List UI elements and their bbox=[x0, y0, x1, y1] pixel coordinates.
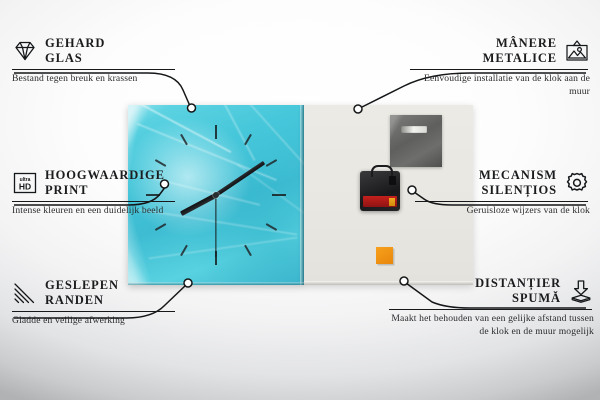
callout-title-block: HOOGWAARDIGE PRINT bbox=[45, 168, 165, 198]
callout-title-line2: GLAS bbox=[45, 51, 105, 66]
callout-title-line2: METALICE bbox=[483, 51, 557, 66]
callout-header: DISTANȚIER SPUMĂ bbox=[389, 276, 594, 306]
ultra-hd-icon-bottom-label: HD bbox=[19, 181, 31, 191]
callout-divider bbox=[389, 309, 592, 310]
callout-hoogwaardige-print: ultra HD HOOGWAARDIGE PRINT Intense kleu… bbox=[12, 168, 177, 218]
callout-title-block: GEHARD GLAS bbox=[45, 36, 105, 66]
gear-icon bbox=[564, 171, 590, 195]
callout-title-block: MECANISM SILENȚIOS bbox=[479, 168, 557, 198]
clock-movement bbox=[360, 171, 400, 211]
metal-hanger-detail bbox=[390, 115, 442, 167]
callout-description: Bestand tegen breuk en krassen bbox=[12, 73, 177, 86]
callout-title-line2: SPUMĂ bbox=[475, 291, 561, 306]
callout-title-line1: DISTANȚIER bbox=[475, 276, 561, 291]
callout-description: Gladde en veilige afwerking bbox=[12, 315, 177, 328]
callout-description: Intense kleuren en een duidelijk beeld bbox=[12, 205, 177, 218]
callout-mecanism-silentios: MECANISM SILENȚIOS Geruisloze wijzers va… bbox=[415, 168, 590, 218]
hanger-slot bbox=[401, 126, 427, 133]
down-arrow-foam-pad-icon bbox=[568, 279, 594, 303]
callout-header: GEHARD GLAS bbox=[12, 36, 177, 66]
foam-spacer-pad bbox=[376, 247, 393, 264]
infographic-canvas: GEHARD GLAS Bestand tegen breuk en krass… bbox=[0, 0, 600, 400]
callout-title-block: GESLEPEN RANDEN bbox=[45, 278, 119, 308]
callout-distantier-spuma: DISTANȚIER SPUMĂ Maakt het behouden van … bbox=[389, 276, 594, 339]
callout-title-line2: RANDEN bbox=[45, 293, 119, 308]
callout-title-line1: MÂNERE bbox=[483, 36, 557, 51]
callout-title-block: DISTANȚIER SPUMĂ bbox=[475, 276, 561, 306]
callout-gehard-glas: GEHARD GLAS Bestand tegen breuk en krass… bbox=[12, 36, 177, 86]
callout-divider bbox=[12, 311, 175, 312]
callout-title-line1: HOOGWAARDIGE bbox=[45, 168, 165, 183]
callout-divider bbox=[12, 69, 175, 70]
callout-divider bbox=[410, 69, 588, 70]
diamond-icon bbox=[12, 39, 38, 63]
battery bbox=[363, 196, 397, 207]
callout-title-line1: MECANISM bbox=[479, 168, 557, 183]
framed-picture-hook-icon bbox=[564, 39, 590, 63]
callout-description: Geruisloze wijzers van de klok bbox=[415, 205, 590, 218]
callout-title-block: MÂNERE METALICE bbox=[483, 36, 557, 66]
movement-knob bbox=[389, 176, 396, 185]
callout-header: GESLEPEN RANDEN bbox=[12, 278, 177, 308]
callout-header: MÂNERE METALICE bbox=[410, 36, 590, 66]
callout-title-line1: GEHARD bbox=[45, 36, 105, 51]
clock-tick-3 bbox=[216, 194, 286, 196]
callout-geslepen-randen: GESLEPEN RANDEN Gladde en veilige afwerk… bbox=[12, 278, 177, 328]
callout-title-line1: GESLEPEN bbox=[45, 278, 119, 293]
ultra-hd-icon: ultra HD bbox=[12, 171, 38, 195]
callout-divider bbox=[415, 201, 588, 202]
bevelled-edge-icon bbox=[12, 281, 38, 305]
callout-manere-metalice: MÂNERE METALICE Eenvoudige installatie v… bbox=[410, 36, 590, 99]
clock-tick-12 bbox=[215, 125, 217, 195]
callout-divider bbox=[12, 201, 175, 202]
callout-title-line2: PRINT bbox=[45, 183, 165, 198]
feather-streak bbox=[149, 237, 298, 259]
callout-header: ultra HD HOOGWAARDIGE PRINT bbox=[12, 168, 177, 198]
clock-center-cap bbox=[213, 192, 219, 198]
callout-description: Eenvoudige installatie van de klok aan d… bbox=[410, 73, 590, 99]
clock-tick-1 bbox=[215, 134, 252, 196]
callout-header: MECANISM SILENȚIOS bbox=[415, 168, 590, 198]
callout-description: Maakt het behouden van een gelijke afsta… bbox=[389, 313, 594, 339]
callout-title-line2: SILENȚIOS bbox=[479, 183, 557, 198]
